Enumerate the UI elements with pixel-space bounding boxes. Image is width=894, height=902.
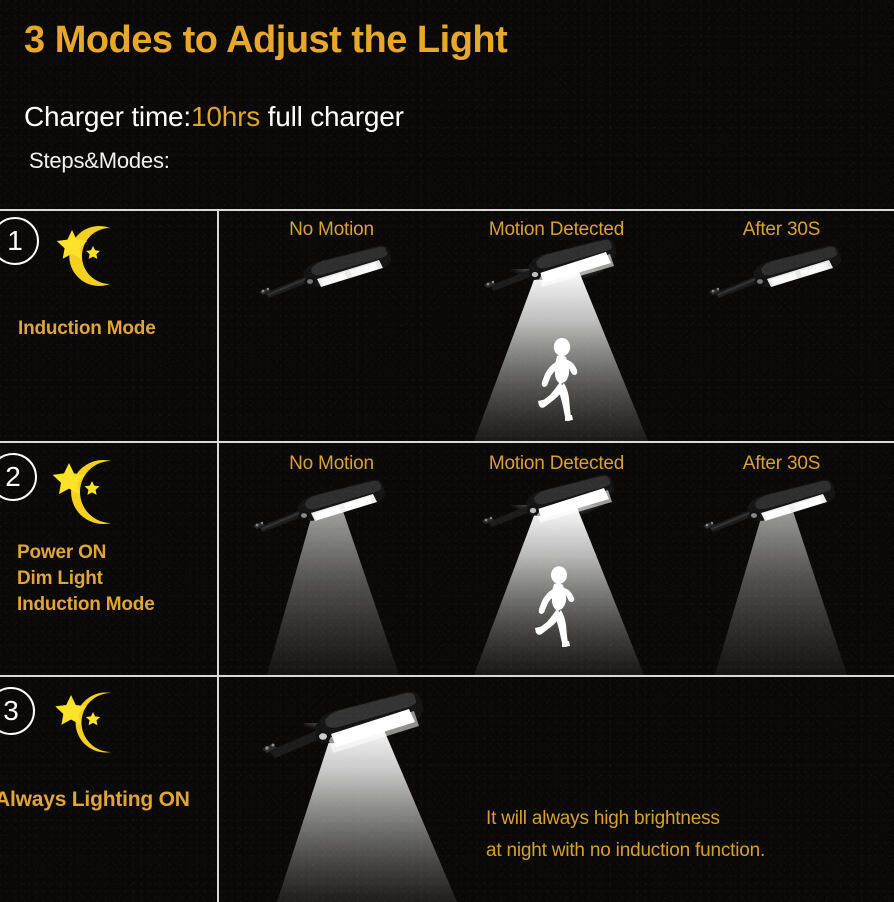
mode-1-scenes: No Motion xyxy=(219,209,894,441)
mode-1-cell-after-30s: After 30S xyxy=(669,209,894,441)
mode-2-line-1: Power ON xyxy=(17,540,155,566)
column-header-after-30s: After 30S xyxy=(669,453,894,475)
mode-1-description: Induction Mode xyxy=(18,316,156,342)
mode-3-number-badge: 3 xyxy=(0,687,35,735)
column-header-no-motion: No Motion xyxy=(219,453,444,475)
charger-time-value: 10hrs xyxy=(191,101,260,132)
lamp-fixture xyxy=(480,237,628,307)
moon-star-icon xyxy=(48,685,140,761)
mode-3-note-line-1: It will always high brightness xyxy=(486,803,765,835)
mode-3-scenes: It will always high brightness at night … xyxy=(219,677,894,902)
mode-3-line-1: Always Lighting ON xyxy=(0,787,190,813)
running-person-silhouette xyxy=(530,337,588,422)
running-person-silhouette xyxy=(528,565,584,648)
lamp-fixture xyxy=(257,689,437,775)
column-header-after-30s: After 30S xyxy=(669,219,894,241)
charger-time-line: Charger time:10hrs full charger xyxy=(24,101,404,133)
header: 3 Modes to Adjust the Light Charger time… xyxy=(0,0,894,209)
lamp-fixture xyxy=(255,244,403,314)
mode-row-2: 2 Power ON Dim Light Induction Mode No M… xyxy=(0,443,894,675)
steps-modes-label: Steps&Modes: xyxy=(29,148,170,174)
mode-2-scenes: No Motion xyxy=(219,443,894,675)
lamp-fixture xyxy=(478,473,626,543)
lamp-fixture xyxy=(249,478,397,548)
mode-2-line-2: Dim Light xyxy=(17,566,155,592)
page-title: 3 Modes to Adjust the Light xyxy=(24,19,507,62)
column-header-no-motion: No Motion xyxy=(219,219,444,241)
modes-grid: 1 Induction Mode No Motion xyxy=(0,209,894,902)
mode-1-cell-no-motion: No Motion xyxy=(219,209,444,441)
mode-3-note-line-2: at night with no induction function. xyxy=(486,835,765,867)
grid-line-row1 xyxy=(0,441,894,443)
mode-2-label-column: 2 Power ON Dim Light Induction Mode xyxy=(0,443,217,675)
mode-2-number-badge: 2 xyxy=(0,453,37,501)
mode-3-note: It will always high brightness at night … xyxy=(486,803,765,867)
mode-2-cell-motion-detected: Motion Detected xyxy=(444,443,669,675)
mode-2-cell-after-30s: After 30S xyxy=(669,443,894,675)
mode-row-3: 3 Always Lighting ON xyxy=(0,677,894,902)
column-header-motion-detected: Motion Detected xyxy=(444,453,669,475)
grid-line-vertical xyxy=(217,209,219,902)
mode-1-cell-motion-detected: Motion Detected xyxy=(444,209,669,441)
charger-time-prefix: Charger time: xyxy=(24,101,191,132)
charger-time-suffix: full charger xyxy=(260,101,404,132)
mode-row-1: 1 Induction Mode No Motion xyxy=(0,209,894,441)
mode-3-label-column: 3 Always Lighting ON xyxy=(0,677,217,902)
mode-2-line-3: Induction Mode xyxy=(17,592,155,618)
lamp-fixture xyxy=(705,244,853,314)
moon-star-icon xyxy=(50,220,138,292)
mode-1-label-column: 1 Induction Mode xyxy=(0,209,217,441)
grid-line-top xyxy=(0,209,894,211)
grid-line-row2 xyxy=(0,675,894,677)
mode-2-cell-no-motion: No Motion xyxy=(219,443,444,675)
mode-3-description: Always Lighting ON xyxy=(0,787,190,813)
moon-star-icon xyxy=(45,453,141,533)
mode-2-description: Power ON Dim Light Induction Mode xyxy=(17,540,155,618)
mode-1-line-1: Induction Mode xyxy=(18,316,156,342)
mode-1-number-badge: 1 xyxy=(0,217,39,265)
lamp-fixture xyxy=(699,478,847,548)
